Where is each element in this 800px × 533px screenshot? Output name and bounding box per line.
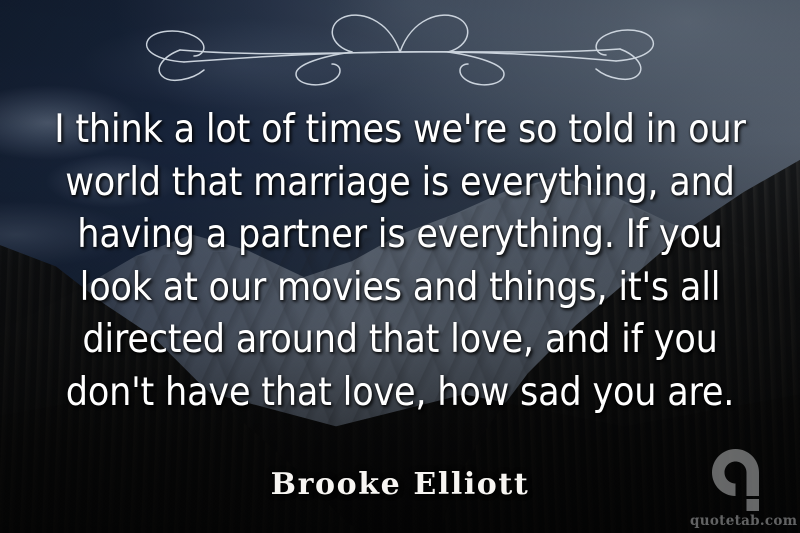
quotetab-q-logo-icon [712, 449, 772, 511]
flourish-divider-icon [120, 6, 680, 92]
quotetab-site-label: quotetab.com [690, 513, 794, 529]
quotetab-watermark[interactable]: quotetab.com [690, 449, 794, 531]
quote-author: Brooke Elliott [0, 467, 800, 502]
quote-poster: I think a lot of times we're so told in … [0, 0, 800, 533]
quote-text: I think a lot of times we're so told in … [36, 104, 764, 419]
